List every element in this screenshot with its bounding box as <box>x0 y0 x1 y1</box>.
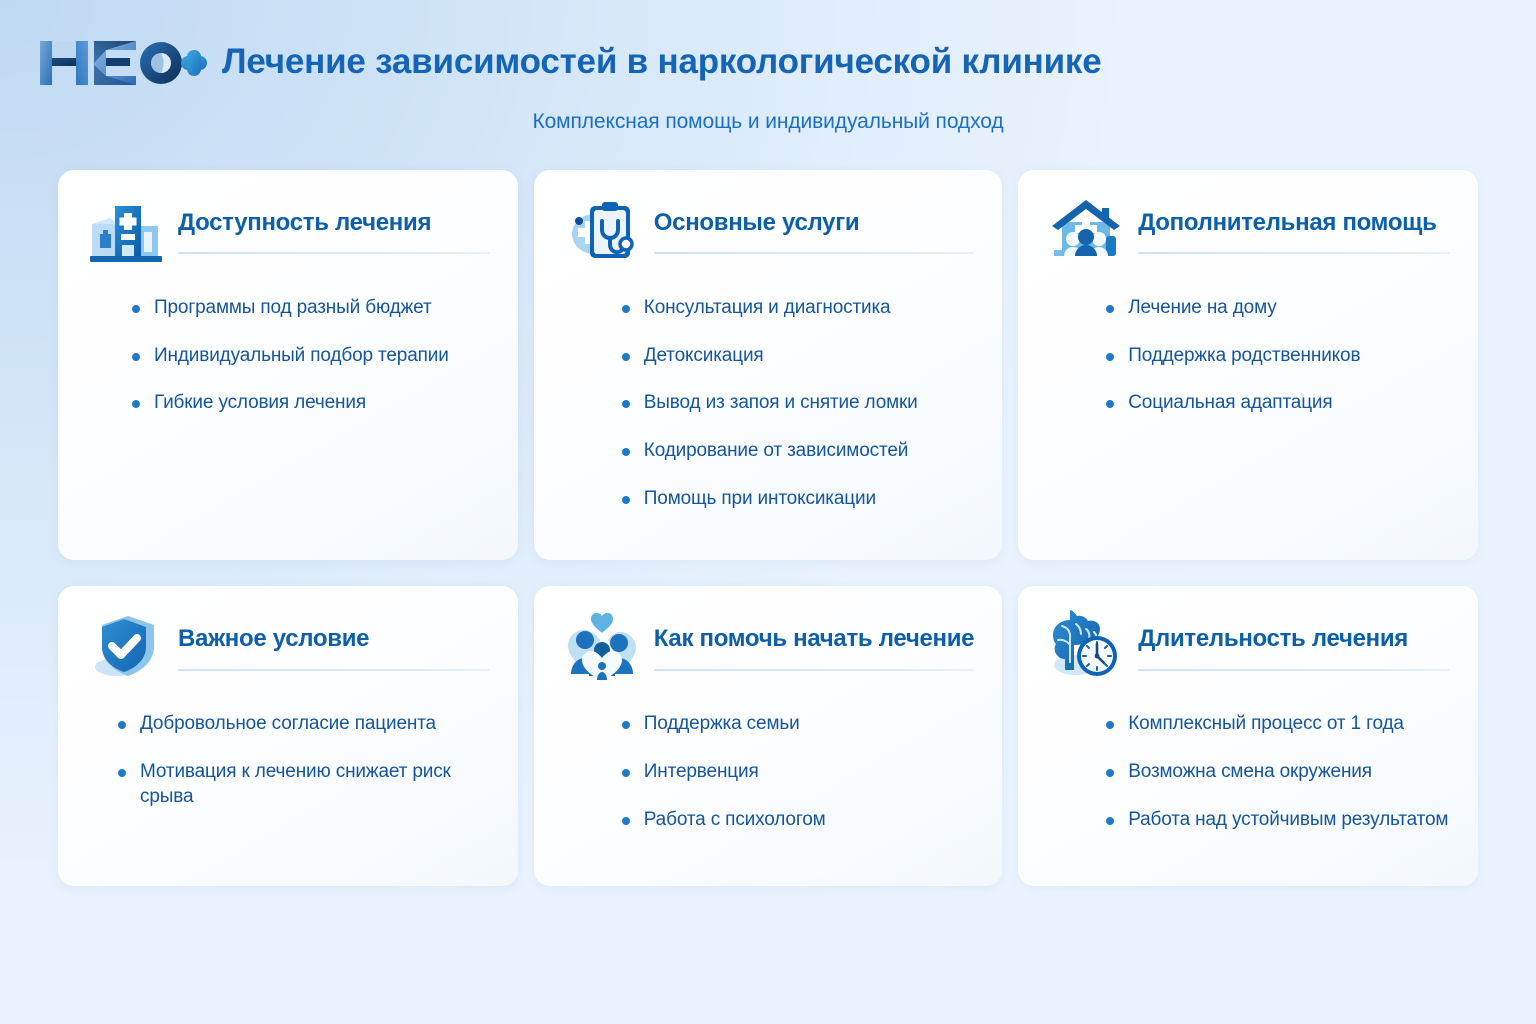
list-item: Добровольное согласие пациента <box>118 712 490 737</box>
card-title: Основные услуги <box>654 210 974 236</box>
card-header: Доступность лечения <box>88 196 490 270</box>
page-subtitle: Комплексная помощь и индивидуальный подх… <box>532 110 1003 133</box>
card-head-text: Основные услуги <box>654 196 974 254</box>
list-item: Работа над устойчивым результатом <box>1106 808 1450 833</box>
list-item: Возможна смена окружения <box>1106 760 1450 785</box>
list-item: Лечение на дому <box>1106 296 1450 321</box>
card-bullet-list: Консультация и диагностика Детоксикация … <box>564 296 974 511</box>
card-head-text: Дополнительная помощь <box>1138 196 1450 254</box>
list-item: Помощь при интоксикации <box>622 487 974 512</box>
list-item: Вывод из запоя и снятие ломки <box>622 391 974 416</box>
title-divider <box>654 669 974 671</box>
shield-check-icon <box>88 610 164 686</box>
card-title: Важное условие <box>178 626 490 652</box>
list-item: Кодирование от зависимостей <box>622 439 974 464</box>
card-bullet-list: Добровольное согласие пациента Мотивация… <box>88 712 490 809</box>
card-main-services[interactable]: Основные услуги Консультация и диагности… <box>534 170 1002 560</box>
title-divider <box>654 252 974 254</box>
card-head-text: Важное условие <box>178 612 490 670</box>
brain-clock-icon <box>1048 610 1124 686</box>
card-head-text: Как помочь начать лечение <box>654 612 974 670</box>
house-family-icon <box>1048 194 1124 270</box>
list-item: Консультация и диагностика <box>622 296 974 321</box>
list-item: Работа с психологом <box>622 808 974 833</box>
card-head-text: Доступность лечения <box>178 196 490 254</box>
card-bullet-list: Лечение на дому Поддержка родственников … <box>1048 296 1450 416</box>
card-availability[interactable]: Доступность лечения Программы под разный… <box>58 170 518 560</box>
card-bullet-list: Поддержка семьи Интервенция Работа с пси… <box>564 712 974 832</box>
family-heart-icon <box>564 610 640 686</box>
list-item: Комплексный процесс от 1 года <box>1106 712 1450 737</box>
card-how-to-start[interactable]: Как помочь начать лечение Поддержка семь… <box>534 586 1002 886</box>
card-title: Как помочь начать лечение <box>654 626 974 652</box>
card-header: Длительность лечения <box>1048 612 1450 686</box>
list-item: Поддержка семьи <box>622 712 974 737</box>
card-header: Дополнительная помощь <box>1048 196 1450 270</box>
page-subtitle-wrap: Комплексная помощь и индивидуальный подх… <box>0 110 1536 134</box>
clipboard-stethoscope-icon <box>564 194 640 270</box>
title-divider <box>178 252 490 254</box>
page-title: Лечение зависимостей в наркологической к… <box>222 44 1102 83</box>
card-bullet-list: Программы под разный бюджет Индивидуальн… <box>88 296 490 416</box>
list-item: Индивидуальный подбор терапии <box>132 344 490 369</box>
card-header: Важное условие <box>88 612 490 686</box>
card-bullet-list: Комплексный процесс от 1 года Возможна с… <box>1048 712 1450 832</box>
list-item: Поддержка родственников <box>1106 344 1450 369</box>
title-divider <box>1138 669 1450 671</box>
card-head-text: Длительность лечения <box>1138 612 1450 670</box>
card-header: Основные услуги <box>564 196 974 270</box>
card-header: Как помочь начать лечение <box>564 612 974 686</box>
hospital-building-icon <box>88 194 164 270</box>
list-item: Интервенция <box>622 760 974 785</box>
list-item: Социальная адаптация <box>1106 391 1450 416</box>
card-treatment-duration[interactable]: Длительность лечения Комплексный процесс… <box>1018 586 1478 886</box>
neo-plus-logo-icon <box>36 35 208 91</box>
cards-grid: Доступность лечения Программы под разный… <box>58 170 1478 886</box>
card-additional-help[interactable]: Дополнительная помощь Лечение на дому По… <box>1018 170 1478 560</box>
page-header: Лечение зависимостей в наркологической к… <box>0 0 1536 96</box>
list-item: Гибкие условия лечения <box>132 391 490 416</box>
list-item: Мотивация к лечению снижает риск срыва <box>118 760 490 809</box>
card-important-condition[interactable]: Важное условие Добровольное согласие пац… <box>58 586 518 886</box>
list-item: Детоксикация <box>622 344 974 369</box>
title-divider <box>178 669 490 671</box>
title-divider <box>1138 252 1450 254</box>
card-title: Доступность лечения <box>178 210 490 236</box>
list-item: Программы под разный бюджет <box>132 296 490 321</box>
card-title: Дополнительная помощь <box>1138 210 1450 236</box>
card-title: Длительность лечения <box>1138 626 1450 652</box>
